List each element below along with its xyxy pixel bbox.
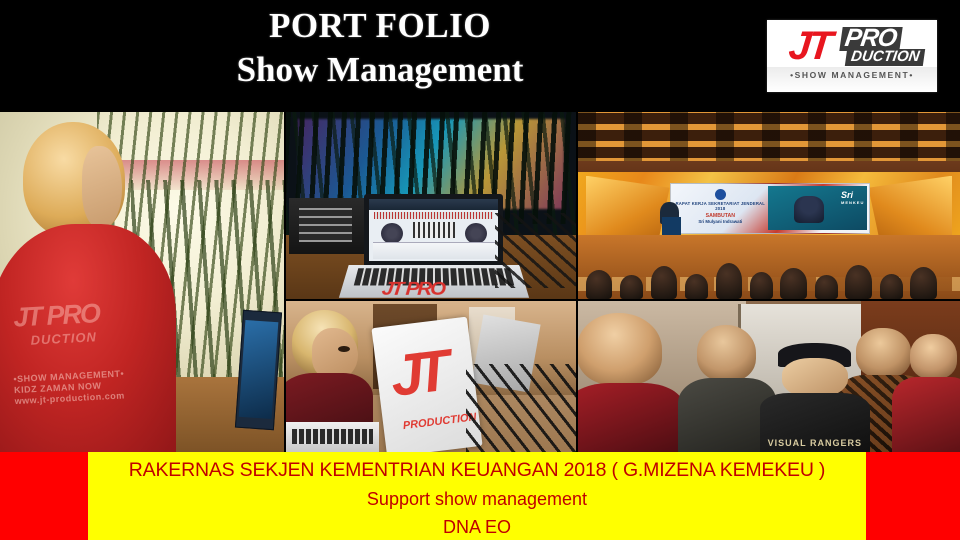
- caption-line-2: Support show management: [88, 485, 866, 513]
- jacket-logo-text: JT PRO DUCTION: [13, 299, 152, 354]
- caption-line-3: DNA EO: [88, 513, 866, 540]
- page-subtitle: Show Management: [0, 48, 760, 92]
- photo-cables: [495, 213, 576, 288]
- title-block: PORT FOLIO Show Management: [0, 4, 760, 92]
- photo-person-3: VISUAL RANGERS: [769, 343, 861, 452]
- caption-band: RAKERNAS SEKJEN KEMENTRIAN KEUANGAN 2018…: [0, 452, 960, 540]
- photo-operator-macbook: JT PRODUCTION: [286, 301, 576, 452]
- photo-crew-selfie: VISUAL RANGERS: [578, 301, 960, 452]
- led-speaker-name-text: Sri: [841, 190, 853, 200]
- photo-person-2: [685, 325, 769, 452]
- photo-laptop-screen: [369, 199, 498, 261]
- dj-software-waveform: [374, 212, 493, 219]
- photo-conference-hall: RAPAT KERJA SEKRETARIAT JENDERAL 2018 SA…: [578, 112, 960, 299]
- photo-crew-red-jacket: JT PRO DUCTION •SHOW MANAGEMENT• KIDZ ZA…: [0, 112, 284, 452]
- caption-box: RAKERNAS SEKJEN KEMENTRIAN KEUANGAN 2018…: [88, 452, 866, 540]
- led-speaker-name: Sri MENKEU: [841, 190, 864, 205]
- logo-wordmark: JT PRO DUCTION: [767, 24, 937, 68]
- photo-person-face: [82, 146, 122, 228]
- led-screen-left-panel: RAPAT KERJA SEKRETARIAT JENDERAL 2018 SA…: [675, 187, 766, 230]
- photo-audience: [578, 235, 960, 299]
- led-line-3: Sri Mulyani Indrawati: [675, 219, 766, 224]
- ministry-crest-icon: [715, 189, 726, 200]
- photo-person-1: [578, 313, 677, 452]
- photo-midi-keyboard: [286, 422, 379, 452]
- dj-software-toolbar: [369, 199, 498, 210]
- photo-ballroom-ceiling: [578, 112, 960, 164]
- photo-led-screen: RAPAT KERJA SEKRETARIAT JENDERAL 2018 SA…: [670, 183, 871, 234]
- page-title: PORT FOLIO: [0, 4, 760, 48]
- portfolio-slide: PORT FOLIO Show Management JT PRO DUCTIO…: [0, 0, 960, 540]
- photo-laptop-lid: [364, 194, 503, 265]
- caption-line-1: RAKERNAS SEKJEN KEMENTRIAN KEUANGAN 2018…: [88, 455, 866, 485]
- led-screen-right-panel: Sri MENKEU: [768, 186, 867, 230]
- led-speaker-role-text: MENKEU: [841, 200, 864, 205]
- led-speaker-figure: [794, 196, 824, 223]
- logo-duction-text: DUCTION: [845, 49, 926, 66]
- photo-dj-laptop: JT PRO: [286, 112, 576, 299]
- slide-header: PORT FOLIO Show Management JT PRO DUCTIO…: [0, 0, 960, 112]
- photo-operator-face: [312, 328, 358, 379]
- dj-software-mixer-panel: [413, 222, 454, 238]
- photo-person-5: [899, 334, 960, 452]
- logo-tagline: •SHOW MANAGEMENT•: [767, 70, 937, 80]
- photo-audience-heads: [578, 235, 960, 299]
- photo-audio-mixer: [289, 198, 364, 254]
- dj-software-browser: [373, 242, 494, 259]
- laptop-jt-sticker: JT PRO: [381, 281, 445, 298]
- logo-jt-text: JT: [787, 26, 832, 66]
- led-line-1: RAPAT KERJA SEKRETARIAT JENDERAL 2018: [675, 201, 766, 211]
- photo-cable-bundle: [466, 364, 576, 452]
- jt-production-logo: JT PRO DUCTION •SHOW MANAGEMENT•: [767, 20, 937, 92]
- visual-rangers-shirt-text: VISUAL RANGERS: [766, 438, 863, 448]
- photo-collage: JT PRO DUCTION •SHOW MANAGEMENT• KIDZ ZA…: [0, 112, 960, 452]
